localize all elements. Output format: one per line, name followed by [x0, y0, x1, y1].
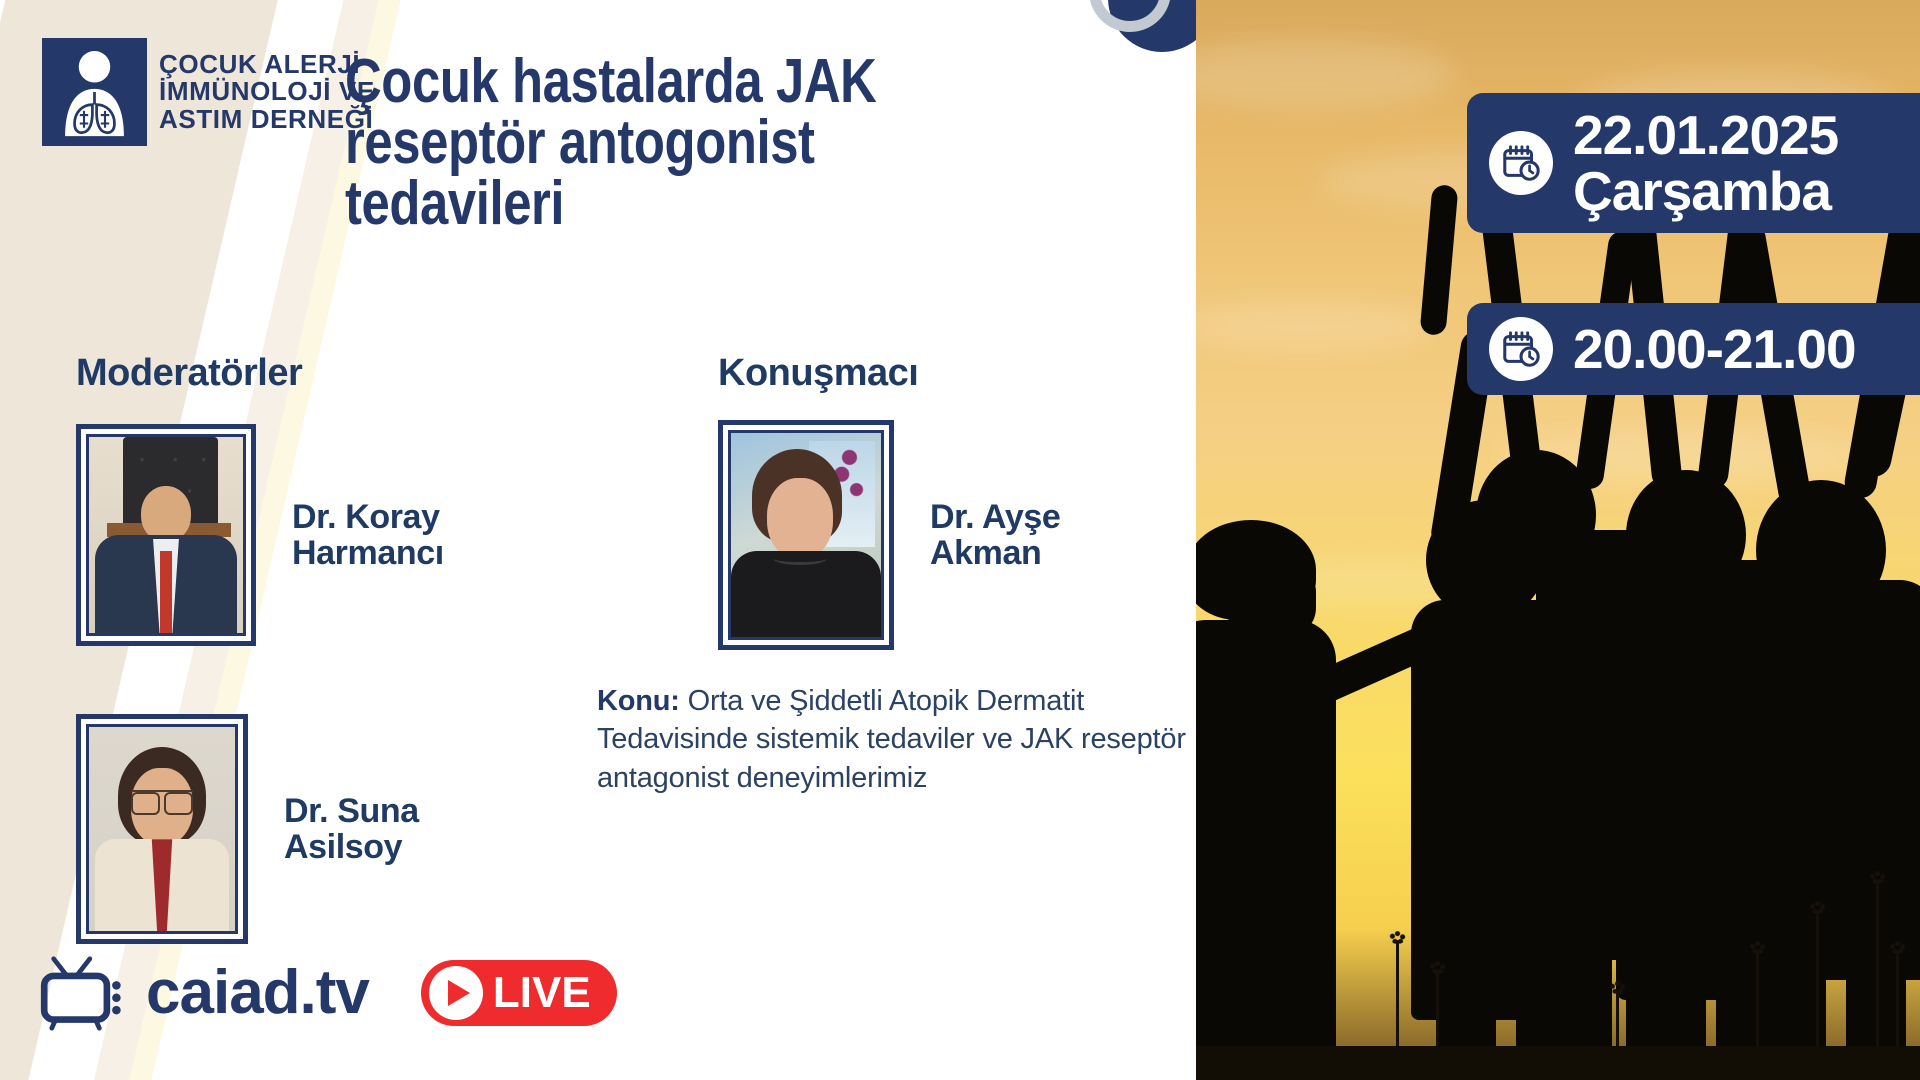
speaker-name: Dr. Ayşe Akman — [930, 499, 1060, 571]
play-icon — [429, 966, 483, 1020]
portrait-koray-harmanci — [86, 434, 246, 636]
moderator-name-2: Dr. Suna Asilsoy — [284, 793, 419, 865]
topic-block: Konu: Orta ve Şiddetli Atopik Dermatit T… — [597, 682, 1196, 797]
speaker-heading: Konuşmacı — [718, 352, 918, 395]
moderator-name-1: Dr. Koray Harmancı — [292, 499, 444, 571]
speaker-card: Dr. Ayşe Akman — [718, 420, 1060, 650]
brand-name: caiad.tv — [146, 962, 369, 1024]
left-content-panel: ÇOCUK ALERJİ İMMÜNOLOJİ VE ASTIM DERNEĞİ… — [0, 0, 1196, 1080]
page-title: Çocuk hastalarda JAK reseptör antogonist… — [345, 52, 1017, 234]
weekday-value: Çarşamba — [1573, 160, 1831, 222]
org-name-line-3: ASTIM DERNEĞİ — [159, 106, 375, 134]
org-name-line-2: İMMÜNOLOJİ VE — [159, 78, 375, 106]
calendar-clock-icon — [1489, 131, 1553, 195]
lungs-person-icon — [42, 38, 147, 146]
calendar-clock-icon — [1489, 317, 1553, 381]
moderators-heading: Moderatörler — [76, 352, 302, 395]
date-badge: 22.01.2025 Çarşamba — [1467, 93, 1920, 233]
topic-label: Konu: — [597, 685, 680, 717]
date-value: 22.01.2025 — [1573, 104, 1838, 166]
date-text: 22.01.2025 Çarşamba — [1573, 107, 1838, 219]
portrait-frame — [76, 714, 248, 944]
moderator-card-1: Dr. Koray Harmancı — [76, 424, 444, 646]
portrait-suna-asilsoy — [86, 724, 238, 934]
org-name-line-1: ÇOCUK ALERJİ — [159, 51, 375, 79]
footer-branding: caiad.tv LIVE — [38, 955, 617, 1031]
live-badge[interactable]: LIVE — [421, 960, 617, 1026]
portrait-frame — [76, 424, 256, 646]
ground-line — [1196, 1046, 1920, 1080]
organization-logo: ÇOCUK ALERJİ İMMÜNOLOJİ VE ASTIM DERNEĞİ — [42, 38, 375, 146]
television-icon — [38, 955, 134, 1031]
time-value: 20.00-21.00 — [1573, 321, 1856, 377]
webinar-poster: ÇOCUK ALERJİ İMMÜNOLOJİ VE ASTIM DERNEĞİ… — [0, 0, 1920, 1080]
moderator-card-2: Dr. Suna Asilsoy — [76, 714, 419, 944]
topic-text: Orta ve Şiddetli Atopik Dermatit Tedavis… — [597, 685, 1186, 794]
live-label: LIVE — [493, 971, 591, 1015]
time-badge: 20.00-21.00 — [1467, 303, 1920, 395]
portrait-frame — [718, 420, 894, 650]
portrait-ayse-akman — [728, 430, 884, 640]
